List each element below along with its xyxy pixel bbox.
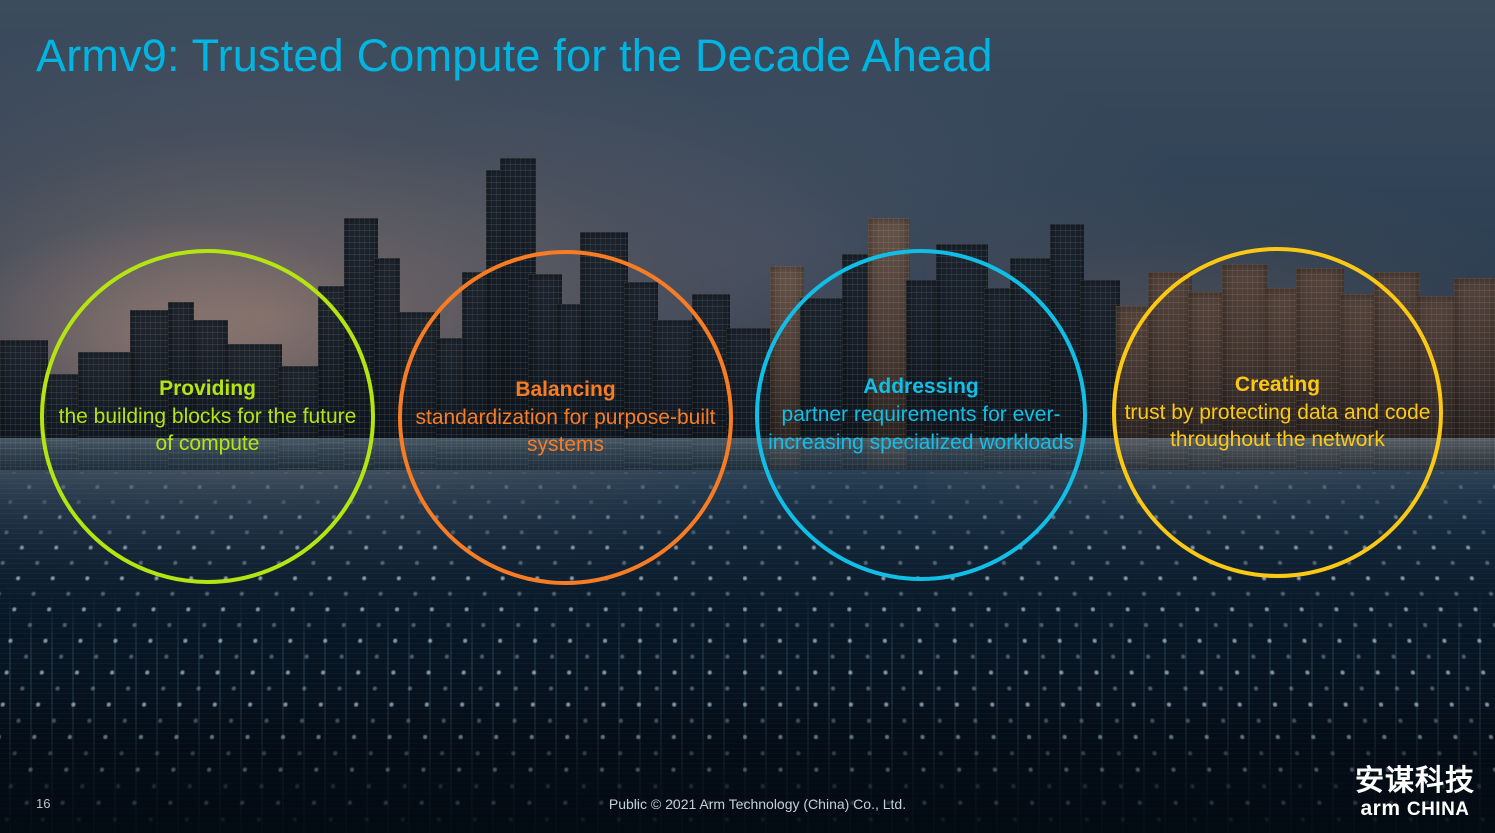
circle-creating: Creating trust by protecting data and co… xyxy=(1112,247,1443,578)
circle-balancing: Balancing standardization for purpose-bu… xyxy=(398,250,733,585)
circle-creating-text: Creating trust by protecting data and co… xyxy=(1116,371,1439,455)
circle-balancing-body: standardization for purpose-built system… xyxy=(415,406,715,457)
logo-chinese-text: 安谋科技 xyxy=(1355,766,1475,795)
circle-creating-lead: Creating xyxy=(1120,371,1435,399)
circle-addressing: Addressing partner requirements for ever… xyxy=(755,249,1087,581)
circle-balancing-lead: Balancing xyxy=(406,376,725,404)
page-title: Armv9: Trusted Compute for the Decade Ah… xyxy=(36,30,993,82)
arm-china-logo: 安谋科技 arm CHINA xyxy=(1355,766,1475,819)
circle-creating-body: trust by protecting data and code throug… xyxy=(1125,401,1431,452)
circle-providing-lead: Providing xyxy=(48,375,367,403)
circle-balancing-text: Balancing standardization for purpose-bu… xyxy=(402,376,729,460)
circle-providing-body: the building blocks for the future of co… xyxy=(59,405,357,456)
logo-china-word: CHINA xyxy=(1407,799,1470,820)
logo-arm-word: arm xyxy=(1360,797,1400,820)
circle-addressing-body: partner requirements for ever-increasing… xyxy=(768,403,1074,454)
circle-providing: Providing the building blocks for the fu… xyxy=(40,249,375,584)
circle-providing-text: Providing the building blocks for the fu… xyxy=(44,375,371,459)
circle-addressing-text: Addressing partner requirements for ever… xyxy=(759,373,1083,457)
logo-english-text: arm CHINA xyxy=(1355,798,1475,819)
slide: Armv9: Trusted Compute for the Decade Ah… xyxy=(0,0,1495,833)
bottom-vignette xyxy=(0,703,1495,833)
circle-addressing-lead: Addressing xyxy=(763,373,1079,401)
copyright-notice: Public © 2021 Arm Technology (China) Co.… xyxy=(0,796,1495,812)
